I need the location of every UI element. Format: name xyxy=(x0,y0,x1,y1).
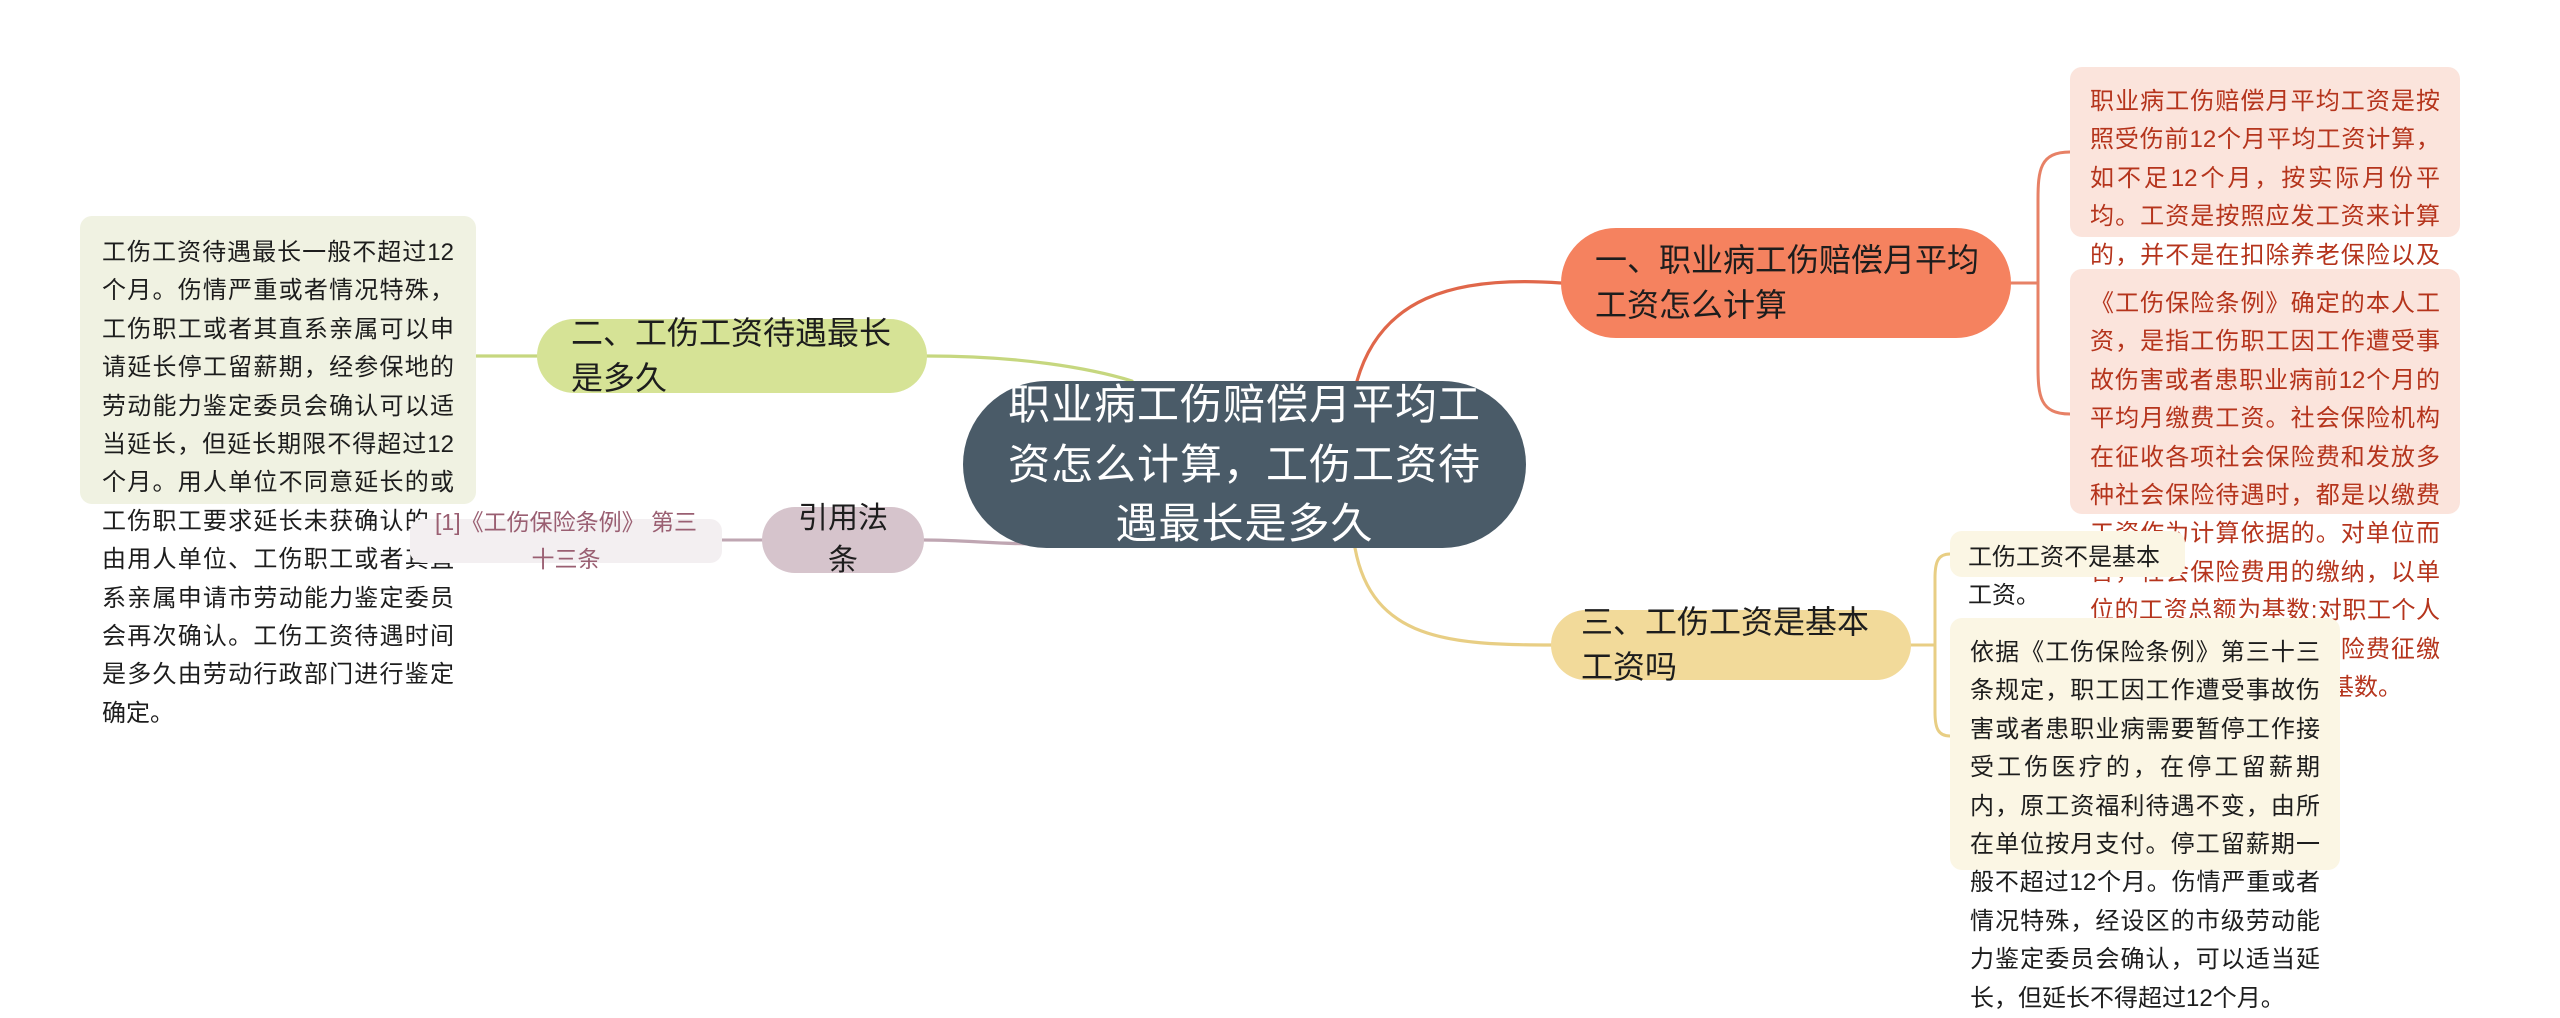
mindmap-canvas: 职业病工伤赔偿月平均工资怎么计算，工伤工资待遇最长是多久 一、职业病工伤赔偿月平… xyxy=(0,0,2560,899)
leaf-node-3b[interactable]: 依据《工伤保险条例》第三十三条规定，职工因工作遭受事故伤害或者患职业病需要暂停工… xyxy=(1950,618,2340,870)
connector-root-to-branch-1 xyxy=(1357,282,1561,381)
branch-node-law-reference[interactable]: 引用法条 xyxy=(762,507,924,573)
branch-node-1[interactable]: 一、职业病工伤赔偿月平均工资怎么计算 xyxy=(1561,228,2011,338)
leaf-node-3a[interactable]: 工伤工资不是基本工资。 xyxy=(1950,531,2185,577)
leaf-node-2a[interactable]: 工伤工资待遇最长一般不超过12个月。伤情严重或者情况特殊，工伤职工或者其直系亲属… xyxy=(80,216,476,504)
leaf-node-1b[interactable]: 《工伤保险条例》确定的本人工资，是指工伤职工因工作遭受事故伤害或者患职业病前12… xyxy=(2070,269,2460,514)
connector-root-to-branch-3 xyxy=(1355,548,1551,645)
connector-branch-1-bracket xyxy=(2038,152,2070,414)
branch-node-3[interactable]: 三、工伤工资是基本工资吗 xyxy=(1551,610,1911,680)
leaf-node-1a[interactable]: 职业病工伤赔偿月平均工资是按照受伤前12个月平均工资计算，如不足12个月，按实际… xyxy=(2070,67,2460,237)
leaf-node-law-citation[interactable]: [1]《工伤保险条例》 第三十三条 xyxy=(410,519,722,563)
root-node[interactable]: 职业病工伤赔偿月平均工资怎么计算，工伤工资待遇最长是多久 xyxy=(963,381,1526,548)
connector-branch-3-bracket xyxy=(1935,554,1950,736)
branch-node-2[interactable]: 二、工伤工资待遇最长是多久 xyxy=(537,319,927,393)
